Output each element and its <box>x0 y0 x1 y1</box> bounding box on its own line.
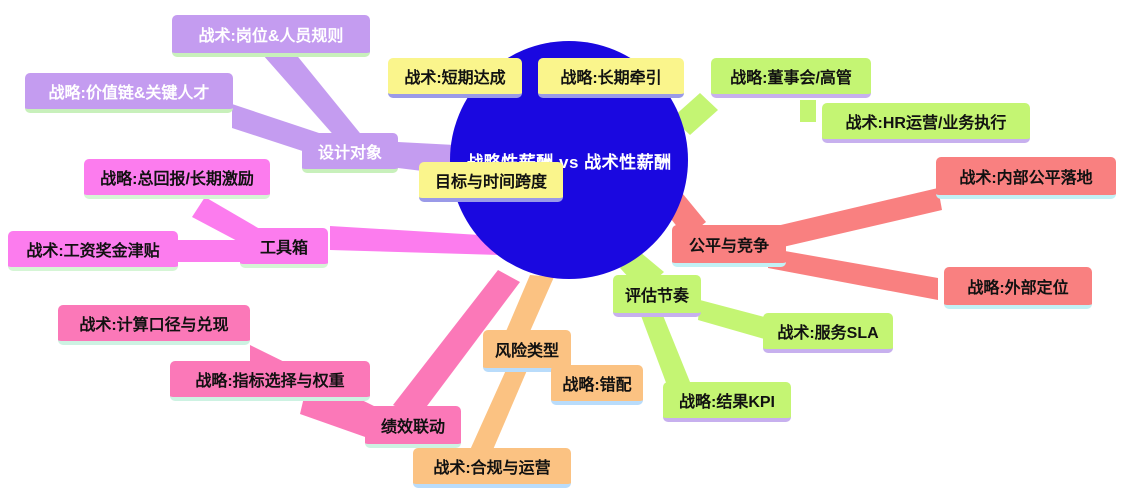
node-label: 战术:HR运营/业务执行 <box>846 109 1007 133</box>
node-tactic-service-sla[interactable]: 战术:服务SLA <box>763 313 893 353</box>
node-fairness-and-competitiveness[interactable]: 公平与竞争 <box>672 225 786 267</box>
node-label: 战略:总回报/长期激励 <box>100 165 254 189</box>
mindmap-canvas: 战略性薪酬 vs 战术性薪酬 战术:短期达成 战略:长期牵引 目标与时间跨度 战… <box>0 0 1145 500</box>
link-board-hr <box>800 100 816 122</box>
node-label: 战术:岗位&人员规则 <box>199 22 344 46</box>
node-tactic-wage-bonus-allowance[interactable]: 战术:工资奖金津贴 <box>8 231 178 271</box>
node-tactic-compliance-and-operations[interactable]: 战术:合规与运营 <box>413 448 571 488</box>
link-fairness-external <box>768 248 938 300</box>
link-fairness-internal <box>768 188 942 250</box>
node-tactic-short-term[interactable]: 战术:短期达成 <box>388 58 522 98</box>
node-strategy-result-kpi[interactable]: 战略:结果KPI <box>663 382 791 422</box>
node-strategy-long-term[interactable]: 战略:长期牵引 <box>538 58 684 98</box>
node-label: 公平与竞争 <box>689 232 769 256</box>
node-label: 战术:工资奖金津贴 <box>26 237 159 261</box>
node-label: 绩效联动 <box>381 413 445 437</box>
node-label: 战略:指标选择与权重 <box>195 367 344 391</box>
link-risk-comp <box>470 368 528 452</box>
node-tactic-post-and-people-rules[interactable]: 战术:岗位&人员规则 <box>172 15 370 57</box>
node-label: 目标与时间跨度 <box>435 168 547 192</box>
node-label: 战略:价值链&关键人才 <box>49 79 210 103</box>
node-strategy-board-and-executives[interactable]: 战略:董事会/高管 <box>711 58 871 98</box>
node-strategy-value-chain-key-talent[interactable]: 战略:价值链&关键人才 <box>25 73 233 113</box>
node-performance-linkage[interactable]: 绩效联动 <box>365 406 461 448</box>
node-label: 战术:内部公平落地 <box>959 164 1092 188</box>
node-tactic-hr-ops-business-execution[interactable]: 战术:HR运营/业务执行 <box>822 103 1030 143</box>
link-review-sla <box>698 300 768 340</box>
link-review-kpi <box>640 308 690 388</box>
node-label: 战略:长期牵引 <box>560 64 661 88</box>
node-label: 战略:错配 <box>562 371 631 395</box>
node-label: 战术:合规与运营 <box>433 454 550 478</box>
node-strategy-metric-selection-weight[interactable]: 战略:指标选择与权重 <box>170 361 370 401</box>
node-review-cadence[interactable]: 评估节奏 <box>613 275 701 317</box>
node-toolbox[interactable]: 工具箱 <box>240 228 328 268</box>
node-design-target[interactable]: 设计对象 <box>302 133 398 173</box>
node-tactic-calculation-and-payout[interactable]: 战术:计算口径与兑现 <box>58 305 250 345</box>
node-strategy-total-reward-lti[interactable]: 战略:总回报/长期激励 <box>84 159 270 199</box>
node-label: 战术:服务SLA <box>777 319 878 343</box>
node-tactic-internal-equity-rollout[interactable]: 战术:内部公平落地 <box>936 157 1116 199</box>
node-label: 设计对象 <box>318 139 382 163</box>
node-label: 战略:董事会/高管 <box>730 64 852 88</box>
node-goal-and-timespan[interactable]: 目标与时间跨度 <box>419 162 563 202</box>
node-strategy-mismatch[interactable]: 战略:错配 <box>551 365 643 405</box>
node-label: 工具箱 <box>260 234 308 258</box>
node-label: 评估节奏 <box>625 282 689 306</box>
node-label: 战术:短期达成 <box>404 64 505 88</box>
node-label: 战略:结果KPI <box>679 388 775 412</box>
node-label: 战略:外部定位 <box>967 274 1068 298</box>
node-strategy-external-positioning[interactable]: 战略:外部定位 <box>944 267 1092 309</box>
node-label: 风险类型 <box>495 337 559 361</box>
node-label: 战术:计算口径与兑现 <box>79 311 228 335</box>
